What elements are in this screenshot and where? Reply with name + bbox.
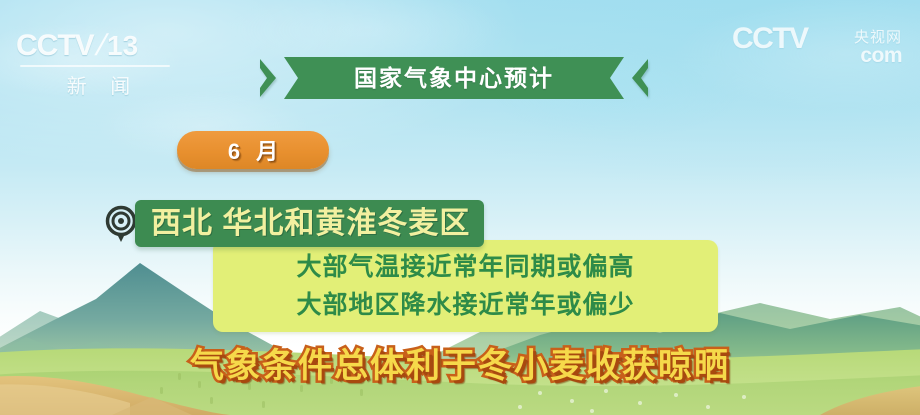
cctv-channel-number: 13	[107, 30, 138, 62]
cctv-wordmark: CCTV	[16, 29, 94, 63]
watermark-com-label: com	[860, 44, 902, 68]
cctv-logo-row: CCTV / 13	[16, 28, 184, 64]
location-pin-icon	[104, 204, 138, 246]
body-text-block: 大部气温接近常年同期或偏高 大部地区降水接近常年或偏少	[213, 248, 718, 324]
bottom-headline: 气象条件总体利于冬小麦收获晾晒	[0, 348, 920, 385]
cctv-channel-logo: CCTV / 13 新 闻	[16, 28, 184, 94]
banner-left-chevron-icon	[258, 57, 278, 99]
banner-right-chevron-icon	[630, 57, 650, 99]
body-text-line: 大部气温接近常年同期或偏高	[213, 248, 718, 286]
month-badge: 6 月	[177, 131, 329, 169]
cctv-dot-com-watermark: CCTV 央视网 com	[732, 24, 902, 68]
body-text-line: 大部地区降水接近常年或偏少	[213, 286, 718, 324]
region-title: 西北 华北和黄淮冬麦区	[151, 209, 470, 239]
cctv-logo-underline	[20, 65, 170, 67]
month-badge-label: 6 月	[223, 134, 283, 166]
region-title-bar: 西北 华北和黄淮冬麦区	[135, 200, 484, 247]
bottom-headline-text: 气象条件总体利于冬小麦收获晾晒	[190, 348, 730, 385]
cctv-logo-subtitle: 新 闻	[16, 70, 184, 99]
banner-body: 国家气象中心预计	[284, 57, 624, 99]
header-title: 国家气象中心预计	[354, 67, 554, 90]
header-banner: 国家气象中心预计	[258, 57, 650, 99]
broadcast-frame: CCTV / 13 新 闻 CCTV 央视网 com 国家气象中心预计 6 月	[0, 0, 920, 415]
